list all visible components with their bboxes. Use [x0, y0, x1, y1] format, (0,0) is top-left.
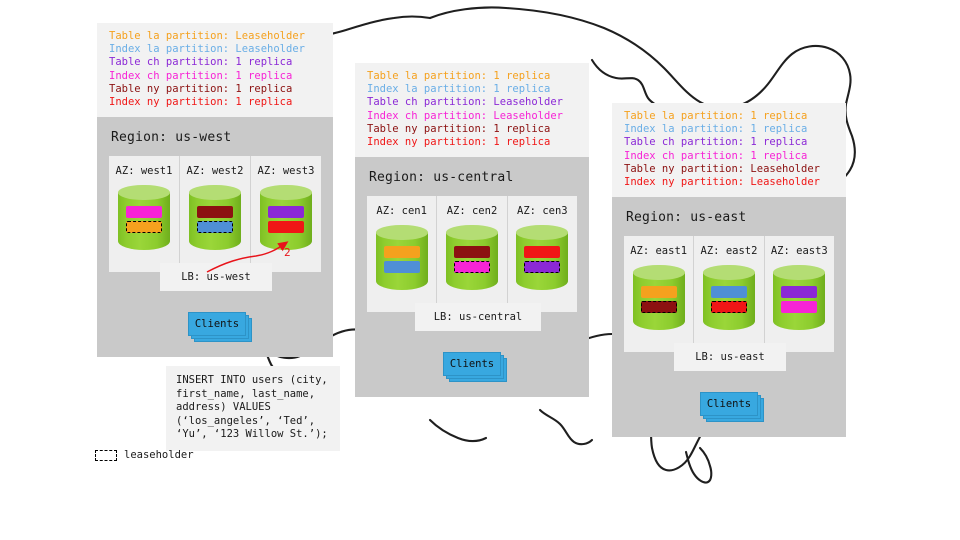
az-cell: AZ: cen2	[436, 196, 506, 312]
partition-row: Table ch partition: 1 replica	[624, 136, 836, 149]
partition-row: Table ny partition: Leaseholder	[624, 163, 836, 176]
partition-label: Table la partition:	[367, 70, 487, 82]
partition-value: 1 replica	[229, 70, 292, 82]
partition-value: 1 replica	[487, 70, 550, 82]
partition-value: 1 replica	[487, 136, 550, 148]
partition-value: 1 replica	[744, 123, 807, 135]
partition-label: Index la partition:	[624, 123, 744, 135]
clients-us-central[interactable]: Clients	[443, 352, 513, 386]
annotation-number: 2	[284, 246, 291, 259]
partition-label: Index ny partition:	[624, 176, 744, 188]
sql-statement: INSERT INTO users (city, first_name, las…	[166, 366, 340, 451]
partition-value: Leaseholder	[229, 43, 305, 55]
partition-label: Index ny partition:	[367, 136, 487, 148]
partition-label: Table ch partition:	[109, 56, 229, 68]
replica-band	[268, 221, 304, 233]
partition-label: Index ch partition:	[109, 70, 229, 82]
partition-row: Table ny partition: 1 replica	[367, 123, 579, 136]
partition-label: Index ny partition:	[109, 96, 229, 108]
partition-value: 1 replica	[487, 83, 550, 95]
partition-row: Index ny partition: Leaseholder	[624, 176, 836, 189]
partition-row: Index ny partition: 1 replica	[367, 136, 579, 149]
db-top-ellipse	[446, 225, 498, 240]
database-node-icon[interactable]	[260, 185, 312, 253]
az-label: AZ: east1	[624, 245, 693, 257]
lb-us-central[interactable]: LB: us-central	[415, 303, 541, 331]
az-label: AZ: cen3	[508, 205, 577, 217]
partition-value: 1 replica	[229, 83, 292, 95]
partition-label: Index la partition:	[109, 43, 229, 55]
partition-value: 1 replica	[229, 56, 292, 68]
partition-row: Index ch partition: Leaseholder	[367, 110, 579, 123]
leaseholder-legend: leaseholder	[95, 449, 194, 461]
database-node-icon[interactable]	[118, 185, 170, 253]
partition-row: Table la partition: Leaseholder	[109, 30, 323, 43]
partition-row: Table la partition: 1 replica	[367, 70, 579, 83]
az-label: AZ: east3	[765, 245, 834, 257]
partition-row: Table ny partition: 1 replica	[109, 83, 323, 96]
db-top-ellipse	[260, 185, 312, 200]
cluster-us-east: Table la partition: 1 replicaIndex la pa…	[612, 103, 846, 437]
db-top-ellipse	[189, 185, 241, 200]
clients-us-west[interactable]: Clients	[188, 312, 258, 346]
partition-value: Leaseholder	[487, 110, 563, 122]
partition-label: Table ny partition:	[367, 123, 487, 135]
replica-band	[781, 286, 817, 298]
replica-band	[641, 286, 677, 298]
replica-band-leaseholder	[454, 261, 490, 273]
db-top-ellipse	[376, 225, 428, 240]
replica-band-leaseholder	[524, 261, 560, 273]
partition-row: Index ny partition: 1 replica	[109, 96, 323, 109]
az-label: AZ: cen1	[367, 205, 436, 217]
replica-band	[384, 246, 420, 258]
region-title: Region: us-west	[97, 117, 333, 156]
database-node-icon[interactable]	[703, 265, 755, 333]
clients-label: Clients	[443, 352, 501, 376]
az-cell: AZ: cen3	[507, 196, 577, 312]
lb-us-east[interactable]: LB: us-east	[674, 343, 786, 371]
leaseholder-swatch-icon	[95, 450, 117, 461]
az-cell: AZ: west1	[109, 156, 179, 272]
replica-band-leaseholder	[126, 221, 162, 233]
db-top-ellipse	[118, 185, 170, 200]
az-label: AZ: west1	[109, 165, 179, 177]
database-node-icon[interactable]	[633, 265, 685, 333]
replica-band-leaseholder	[641, 301, 677, 313]
clients-label: Clients	[700, 392, 758, 416]
partition-legend-us-east: Table la partition: 1 replicaIndex la pa…	[612, 103, 846, 197]
partition-value: 1 replica	[229, 96, 292, 108]
partition-row: Index la partition: 1 replica	[624, 123, 836, 136]
diagram-stage: Table la partition: LeaseholderIndex la …	[0, 0, 960, 540]
az-cell: AZ: east3	[764, 236, 834, 352]
db-top-ellipse	[633, 265, 685, 280]
partition-label: Index la partition:	[367, 83, 487, 95]
partition-label: Index ch partition:	[367, 110, 487, 122]
region-title: Region: us-east	[612, 197, 846, 236]
partition-legend-us-west: Table la partition: LeaseholderIndex la …	[97, 23, 333, 117]
partition-row: Table ch partition: 1 replica	[109, 56, 323, 69]
replica-band	[781, 301, 817, 313]
database-node-icon[interactable]	[773, 265, 825, 333]
partition-label: Table la partition:	[109, 30, 229, 42]
partition-row: Index la partition: 1 replica	[367, 83, 579, 96]
replica-band	[197, 206, 233, 218]
partition-value: 1 replica	[744, 110, 807, 122]
partition-value: Leaseholder	[229, 30, 305, 42]
az-cell: AZ: west2	[179, 156, 250, 272]
partition-label: Table ch partition:	[624, 136, 744, 148]
replica-band	[711, 286, 747, 298]
cluster-us-central: Table la partition: 1 replicaIndex la pa…	[355, 63, 589, 397]
replica-band-leaseholder	[711, 301, 747, 313]
partition-value: 1 replica	[744, 136, 807, 148]
az-cell: AZ: cen1	[367, 196, 436, 312]
partition-row: Index ch partition: 1 replica	[624, 150, 836, 163]
clients-label: Clients	[188, 312, 246, 336]
database-node-icon[interactable]	[516, 225, 568, 293]
region-title: Region: us-central	[355, 157, 589, 196]
partition-label: Table ny partition:	[624, 163, 744, 175]
replica-band	[126, 206, 162, 218]
replica-band	[384, 261, 420, 273]
az-label: AZ: east2	[694, 245, 763, 257]
partition-row: Index ch partition: 1 replica	[109, 70, 323, 83]
database-node-icon[interactable]	[446, 225, 498, 293]
partition-legend-us-central: Table la partition: 1 replicaIndex la pa…	[355, 63, 589, 157]
replica-band	[524, 246, 560, 258]
az-cell: AZ: east2	[693, 236, 763, 352]
partition-label: Index ch partition:	[624, 150, 744, 162]
partition-row: Table la partition: 1 replica	[624, 110, 836, 123]
partition-label: Table ch partition:	[367, 96, 487, 108]
az-strip-us-central: AZ: cen1AZ: cen2AZ: cen3	[367, 196, 577, 312]
lb-us-west[interactable]: LB: us-west	[160, 263, 272, 291]
az-label: AZ: cen2	[437, 205, 506, 217]
clients-us-east[interactable]: Clients	[700, 392, 770, 426]
partition-row: Index la partition: Leaseholder	[109, 43, 323, 56]
replica-band	[268, 206, 304, 218]
partition-label: Table ny partition:	[109, 83, 229, 95]
partition-value: Leaseholder	[487, 96, 563, 108]
az-label: AZ: west2	[180, 165, 250, 177]
leaseholder-legend-label: leaseholder	[124, 449, 194, 461]
partition-label: Table la partition:	[624, 110, 744, 122]
az-label: AZ: west3	[251, 165, 321, 177]
partition-value: 1 replica	[744, 150, 807, 162]
az-strip-us-east: AZ: east1AZ: east2AZ: east3	[624, 236, 834, 352]
partition-row: Table ch partition: Leaseholder	[367, 96, 579, 109]
database-node-icon[interactable]	[189, 185, 241, 253]
cluster-us-west: Table la partition: LeaseholderIndex la …	[97, 23, 333, 357]
db-top-ellipse	[703, 265, 755, 280]
database-node-icon[interactable]	[376, 225, 428, 293]
replica-band	[454, 246, 490, 258]
partition-value: Leaseholder	[744, 176, 820, 188]
az-cell: AZ: east1	[624, 236, 693, 352]
partition-value: 1 replica	[487, 123, 550, 135]
replica-band-leaseholder	[197, 221, 233, 233]
partition-value: Leaseholder	[744, 163, 820, 175]
